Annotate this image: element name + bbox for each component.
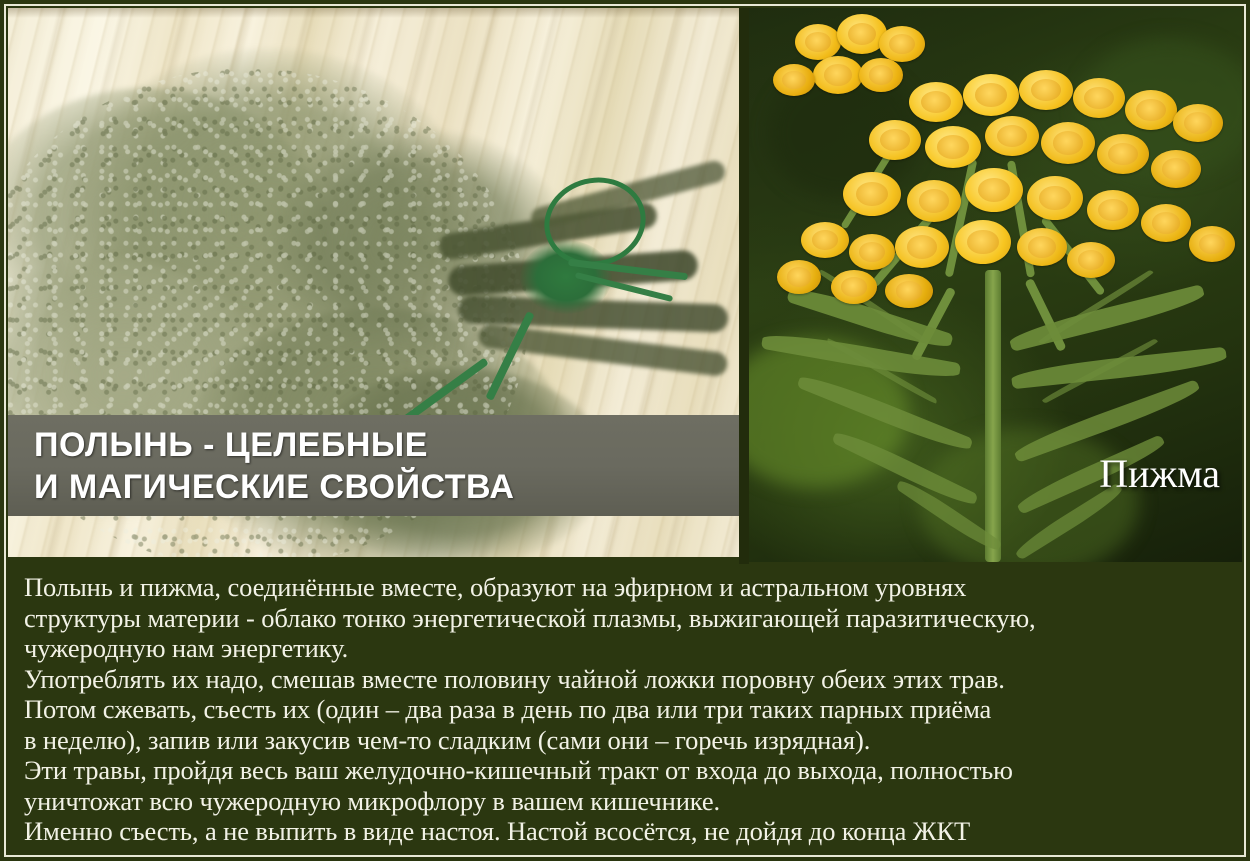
tansy-photo: Пижма — [749, 8, 1242, 562]
tansy-flower — [1097, 134, 1149, 174]
tansy-flower — [909, 82, 963, 122]
text-line: уничтожат всю чужеродную микрофлору в ва… — [24, 786, 720, 816]
tansy-flower — [801, 222, 849, 258]
tansy-flower — [773, 64, 815, 96]
tansy-flower — [831, 270, 877, 304]
tansy-flower — [849, 234, 895, 270]
photo-strip: ПОЛЫНЬ - ЦЕЛЕБНЫЕ И МАГИЧЕСКИЕ СВОЙСТВА — [8, 8, 1242, 564]
tansy-flower — [1087, 190, 1139, 230]
caption-line-2: И МАГИЧЕСКИЕ СВОЙСТВА — [34, 466, 739, 508]
tansy-flower — [859, 58, 903, 92]
tansy-flower — [963, 74, 1019, 116]
text-line: структуры материи - облако тонко энергет… — [24, 603, 1036, 633]
tansy-flower — [1173, 104, 1223, 142]
tansy-flower — [1041, 122, 1095, 164]
tansy-flower — [885, 274, 933, 308]
tansy-flower — [795, 24, 841, 60]
tansy-flower — [985, 116, 1039, 156]
tansy-flower — [1151, 150, 1201, 188]
tansy-flower — [843, 172, 901, 216]
paragraph-4: Именно съесть, а не выпить в виде настоя… — [24, 816, 1228, 847]
body-text-panel: Полынь и пижма, соединённые вместе, обра… — [8, 566, 1242, 853]
wormwood-caption-banner: ПОЛЫНЬ - ЦЕЛЕБНЫЕ И МАГИЧЕСКИЕ СВОЙСТВА — [8, 415, 739, 516]
text-line: Потом сжевать, съесть их (один – два раз… — [24, 694, 991, 724]
tansy-flower — [895, 226, 949, 268]
paragraph-3: Эти травы, пройдя весь ваш желудочно-киш… — [24, 755, 1228, 816]
tansy-flower — [1189, 226, 1235, 262]
tansy-flower — [1141, 204, 1191, 242]
text-line: в неделю), запив или закусив чем-то слад… — [24, 725, 870, 755]
text-line: Эти травы, пройдя весь ваш желудочно-киш… — [24, 755, 1013, 785]
paragraph-2: Употреблять их надо, смешав вместе полов… — [24, 664, 1228, 756]
tansy-flower — [965, 168, 1023, 212]
tansy-flower — [955, 220, 1011, 264]
tansy-flower — [1125, 90, 1177, 130]
wormwood-photo: ПОЛЫНЬ - ЦЕЛЕБНЫЕ И МАГИЧЕСКИЕ СВОЙСТВА — [8, 8, 739, 557]
tansy-flower — [879, 26, 925, 62]
tansy-flower — [907, 180, 961, 222]
photo-divider — [739, 8, 749, 564]
text-line: Именно съесть, а не выпить в виде настоя… — [24, 816, 970, 846]
tansy-flower — [869, 120, 921, 160]
tansy-flower — [813, 56, 863, 94]
tansy-flower — [1019, 70, 1073, 110]
main-stem — [985, 270, 1001, 562]
text-line: Полынь и пижма, соединённые вместе, обра… — [24, 572, 966, 602]
caption-line-1: ПОЛЫНЬ - ЦЕЛЕБНЫЕ — [34, 424, 739, 466]
text-line: Употреблять их надо, смешав вместе полов… — [24, 664, 1005, 694]
tansy-flower — [1067, 242, 1115, 278]
tansy-flower — [925, 126, 981, 168]
tansy-flower — [1027, 176, 1083, 220]
tansy-flower — [1073, 78, 1125, 118]
herbal-info-poster: ПОЛЫНЬ - ЦЕЛЕБНЫЕ И МАГИЧЕСКИЕ СВОЙСТВА — [0, 0, 1250, 861]
tansy-flower — [777, 260, 821, 294]
tansy-label: Пижма — [1099, 452, 1220, 496]
paragraph-1: Полынь и пижма, соединённые вместе, обра… — [24, 572, 1228, 664]
text-line: чужеродную нам энергетику. — [24, 633, 348, 663]
tansy-flower — [1017, 228, 1067, 266]
